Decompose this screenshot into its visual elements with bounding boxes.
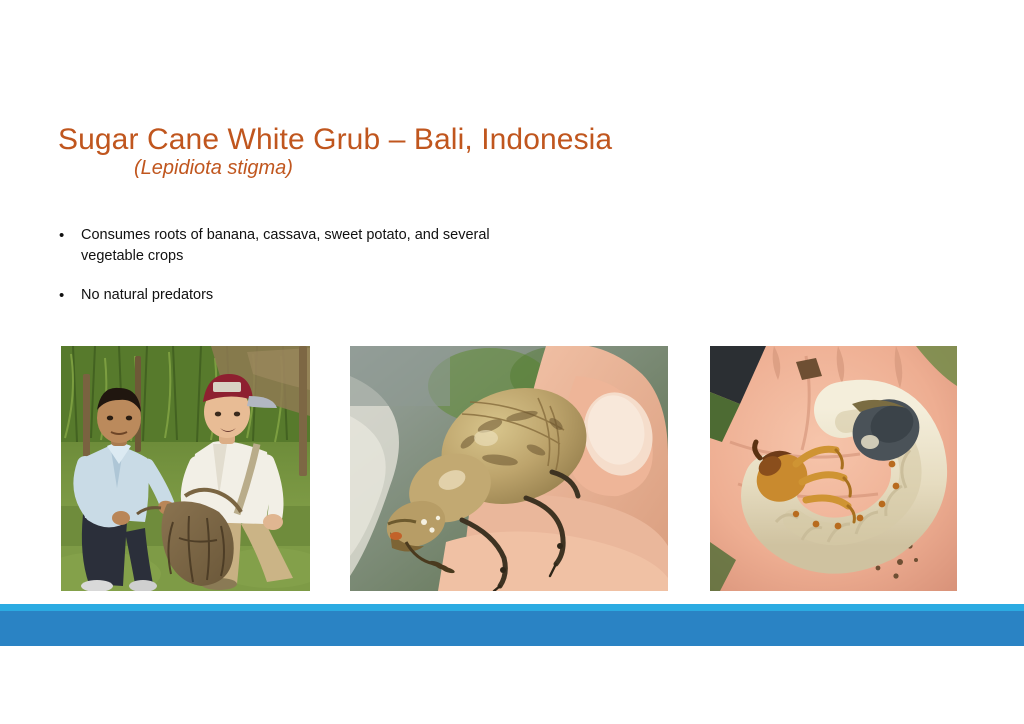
bullet-list: • Consumes roots of banana, cassava, swe… (56, 225, 616, 324)
photo-white-grub-larva (710, 346, 957, 591)
bullet-text: No natural predators (81, 285, 213, 306)
photo-adult-beetle-image (350, 346, 668, 591)
bullet-text: Consumes roots of banana, cassava, sweet… (81, 225, 531, 267)
list-item: • No natural predators (56, 285, 616, 306)
page-title: Sugar Cane White Grub – Bali, Indonesia (58, 124, 958, 156)
title-block: Sugar Cane White Grub – Bali, Indonesia … (58, 124, 958, 180)
page-subtitle-scientific-name: (Lepidiota stigma) (58, 157, 958, 180)
photo-row (0, 346, 1024, 591)
list-item: • Consumes roots of banana, cassava, swe… (56, 225, 616, 267)
footer-accent-bar-dark (0, 611, 1024, 646)
photo-white-grub-larva-image (710, 346, 957, 591)
bullet-point-icon: • (56, 285, 81, 306)
photo-adult-beetle (350, 346, 668, 591)
slide-canvas: Sugar Cane White Grub – Bali, Indonesia … (0, 0, 1024, 724)
photo-field-workers-image (61, 346, 310, 591)
bullet-point-icon: • (56, 225, 81, 246)
footer-accent-bar-light (0, 604, 1024, 611)
photo-field-workers (61, 346, 310, 591)
